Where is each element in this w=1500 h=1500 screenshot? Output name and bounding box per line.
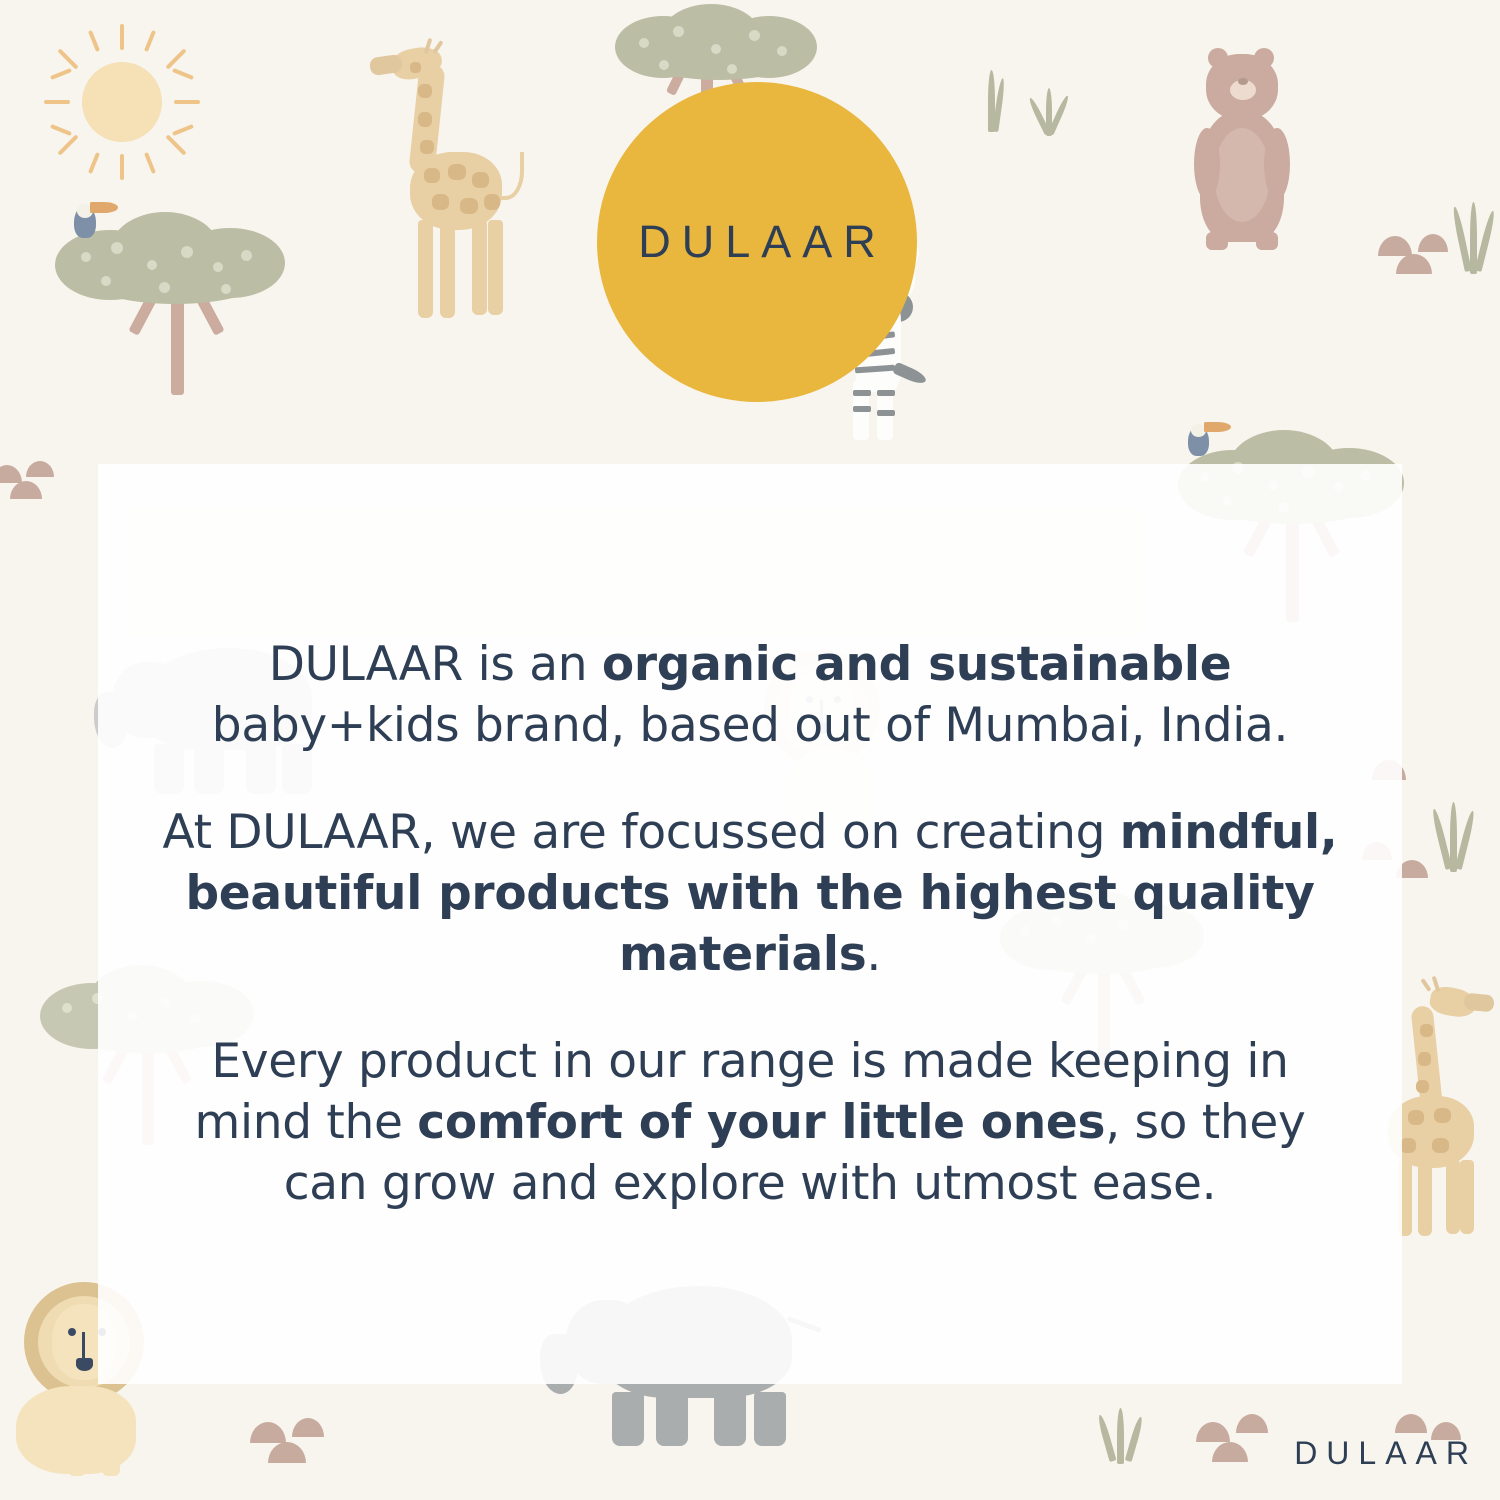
rock-illustration xyxy=(250,1412,340,1472)
paragraph-intro-run-2: baby+kids brand, based out of Mumbai, In… xyxy=(212,698,1288,753)
paragraph-intro: DULAAR is an organic and sustainable bab… xyxy=(98,634,1402,756)
bear-illustration xyxy=(1192,42,1302,262)
sun-illustration xyxy=(42,22,202,182)
rock-illustration xyxy=(1378,228,1458,278)
rock-illustration xyxy=(1196,1410,1286,1470)
paragraph-comfort: Every product in our range is made keepi… xyxy=(98,1031,1402,1214)
about-copy-panel: DULAAR is an organic and sustainable bab… xyxy=(98,464,1402,1384)
paragraph-focus-run-0: At DULAAR, we are focussed on creating xyxy=(163,805,1120,860)
poster-canvas: DULAAR DULAAR is an organic and sustaina… xyxy=(0,0,1500,1500)
toucan-illustration xyxy=(70,198,120,244)
paragraph-focus: At DULAAR, we are focussed on creating m… xyxy=(98,802,1402,985)
grass-illustration xyxy=(1452,200,1500,290)
grass-illustration xyxy=(1095,1400,1185,1480)
logo-badge: DULAAR xyxy=(597,82,917,402)
paragraph-focus-run-2: . xyxy=(866,927,881,982)
footer-wordmark: DULAAR xyxy=(1294,1435,1478,1472)
grass-illustration xyxy=(980,60,1090,150)
grass-illustration xyxy=(1432,800,1492,890)
toucan-illustration xyxy=(1182,418,1232,464)
giraffe-illustration xyxy=(352,22,532,322)
paragraph-comfort-run-1: comfort of your little ones xyxy=(417,1095,1105,1150)
about-copy: DULAAR is an organic and sustainable bab… xyxy=(98,634,1402,1215)
rock-illustration xyxy=(0,455,60,505)
logo-wordmark: DULAAR xyxy=(627,216,887,268)
paragraph-intro-run-0: DULAAR is an xyxy=(269,637,602,692)
paragraph-intro-run-1: organic and sustainable xyxy=(602,637,1231,692)
